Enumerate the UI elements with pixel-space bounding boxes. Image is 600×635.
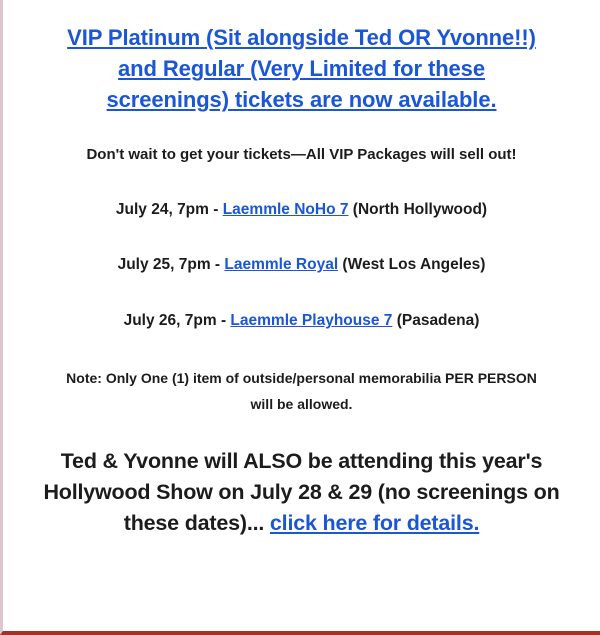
note-line-2: will be allowed. bbox=[17, 392, 586, 418]
announcement-page: VIP Platinum (Sit alongside Ted OR Yvonn… bbox=[0, 0, 600, 635]
screening-datetime-3: July 26, 7pm - bbox=[124, 312, 231, 329]
screening-location-1: (North Hollywood) bbox=[348, 201, 487, 218]
headline-line-1: VIP Platinum (Sit alongside Ted OR Yvonn… bbox=[17, 22, 586, 53]
screening-datetime-2: July 25, 7pm - bbox=[118, 256, 225, 273]
screening-location-3: (Pasadena) bbox=[392, 312, 479, 329]
venue-link-laemmle-royal[interactable]: Laemmle Royal bbox=[224, 256, 338, 273]
headline-line-3: screenings) tickets are now available. bbox=[17, 84, 586, 115]
announcement-content: VIP Platinum (Sit alongside Ted OR Yvonn… bbox=[3, 0, 600, 539]
screening-row-2: July 25, 7pm - Laemmle Royal (West Los A… bbox=[17, 220, 586, 276]
memorabilia-note: Note: Only One (1) item of outside/perso… bbox=[17, 332, 586, 418]
screening-row-3: July 26, 7pm - Laemmle Playhouse 7 (Pasa… bbox=[17, 276, 586, 332]
urgency-message: Don't wait to get your tickets—All VIP P… bbox=[17, 116, 586, 165]
screening-location-2: (West Los Angeles) bbox=[338, 256, 485, 273]
tickets-available-link[interactable]: VIP Platinum (Sit alongside Ted OR Yvonn… bbox=[17, 22, 586, 116]
hollywood-show-paragraph: Ted & Yvonne will ALSO be attending this… bbox=[17, 418, 586, 540]
headline-line-2: and Regular (Very Limited for these bbox=[17, 53, 586, 84]
screening-row-1: July 24, 7pm - Laemmle NoHo 7 (North Hol… bbox=[17, 165, 586, 221]
screening-datetime-1: July 24, 7pm - bbox=[116, 201, 223, 218]
headline-link-block: VIP Platinum (Sit alongside Ted OR Yvonn… bbox=[17, 0, 586, 116]
note-line-1: Note: Only One (1) item of outside/perso… bbox=[17, 366, 586, 392]
click-here-for-details-link[interactable]: click here for details. bbox=[270, 511, 479, 535]
venue-link-laemmle-noho-7[interactable]: Laemmle NoHo 7 bbox=[223, 201, 349, 218]
venue-link-laemmle-playhouse-7[interactable]: Laemmle Playhouse 7 bbox=[230, 312, 392, 329]
